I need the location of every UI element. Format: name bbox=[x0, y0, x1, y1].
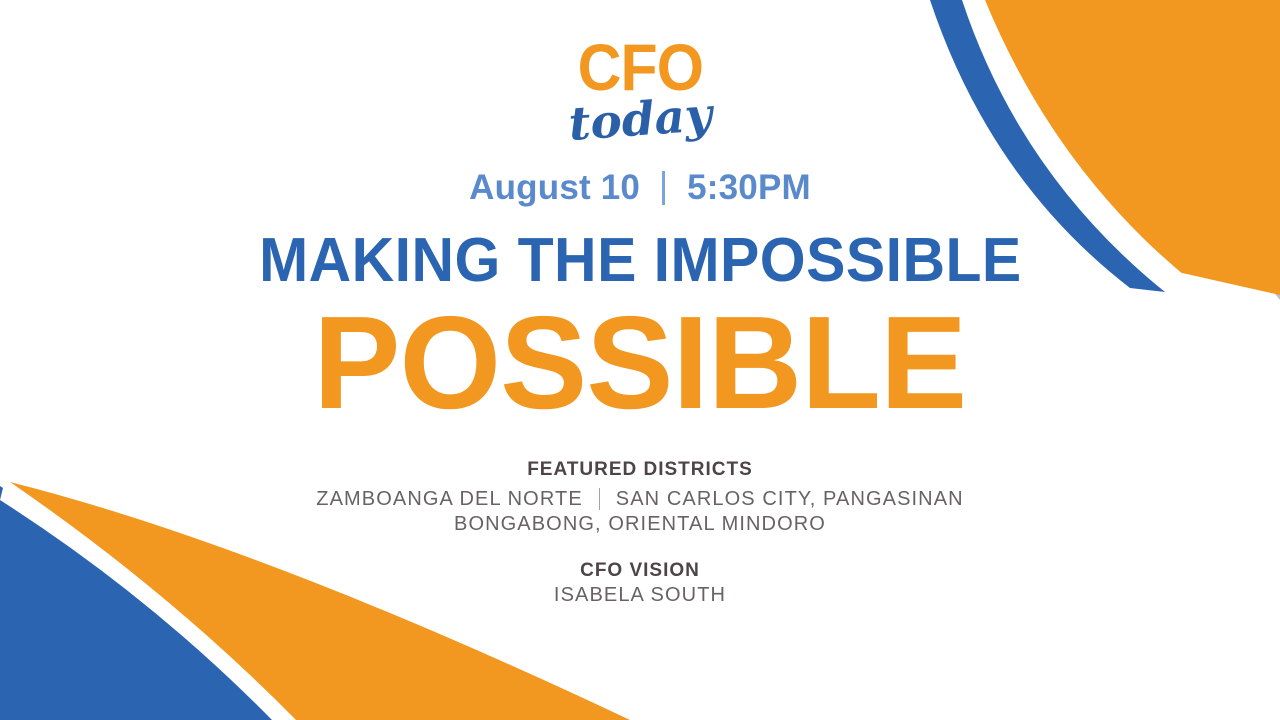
district-info: FEATURED DISTRICTS ZAMBOANGA DEL NORTE S… bbox=[316, 459, 963, 607]
datetime-divider bbox=[662, 171, 665, 205]
cfo-vision-heading: CFO VISION bbox=[316, 560, 963, 582]
featured-district-3: BONGABONG, ORIENTAL MINDORO bbox=[316, 513, 963, 536]
featured-districts-row-1: ZAMBOANGA DEL NORTE SAN CARLOS CITY, PAN… bbox=[316, 488, 963, 511]
event-datetime: August 10 5:30PM bbox=[469, 168, 811, 208]
cfo-vision-district: ISABELA SOUTH bbox=[316, 584, 963, 607]
headline-secondary: POSSIBLE bbox=[314, 294, 967, 433]
featured-district-2: SAN CARLOS CITY, PANGASINAN bbox=[616, 488, 964, 511]
event-date: August 10 bbox=[469, 168, 640, 208]
event-time: 5:30PM bbox=[687, 168, 811, 208]
cfo-today-logo: CFO today bbox=[570, 34, 711, 142]
district-divider bbox=[599, 488, 600, 510]
featured-district-1: ZAMBOANGA DEL NORTE bbox=[316, 488, 583, 511]
headline-primary: MAKING THE IMPOSSIBLE bbox=[259, 230, 1022, 292]
event-poster: CFO today August 10 5:30PM MAKING THE IM… bbox=[0, 0, 1280, 720]
logo-today-script: today bbox=[567, 91, 713, 147]
poster-content: CFO today August 10 5:30PM MAKING THE IM… bbox=[0, 0, 1280, 720]
featured-districts-heading: FEATURED DISTRICTS bbox=[316, 459, 963, 481]
